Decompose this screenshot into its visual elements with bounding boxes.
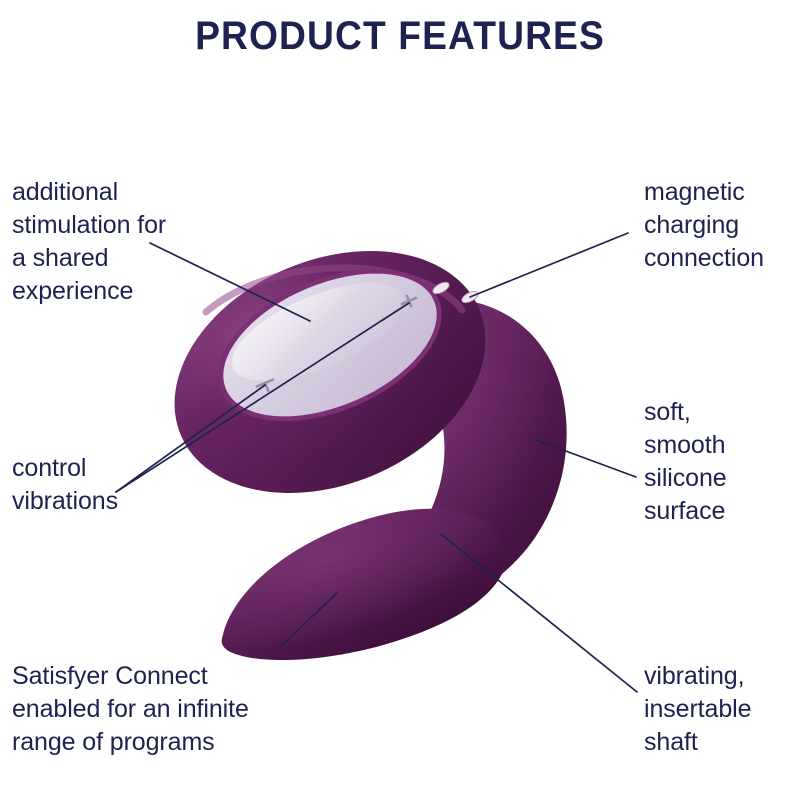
leader-line-satisfyer-connect [279,593,337,648]
callout-control-vibrations: control vibrations [12,452,242,518]
leader-line-magnetic-charging [470,233,628,297]
product-features-page: PRODUCT FEATURES [0,0,800,800]
callout-additional-stimulation: additional stimulation for a shared expe… [12,176,262,308]
callout-soft-silicone: soft, smooth silicone surface [644,396,796,528]
callout-magnetic-charging: magnetic charging connection [644,176,796,275]
leader-line-vibrating-shaft [441,534,637,692]
callout-vibrating-shaft: vibrating, insertable shaft [644,660,800,759]
callout-satisfyer-connect: Satisfyer Connect enabled for an infinit… [12,660,342,759]
leader-line-soft-silicone [536,440,636,477]
